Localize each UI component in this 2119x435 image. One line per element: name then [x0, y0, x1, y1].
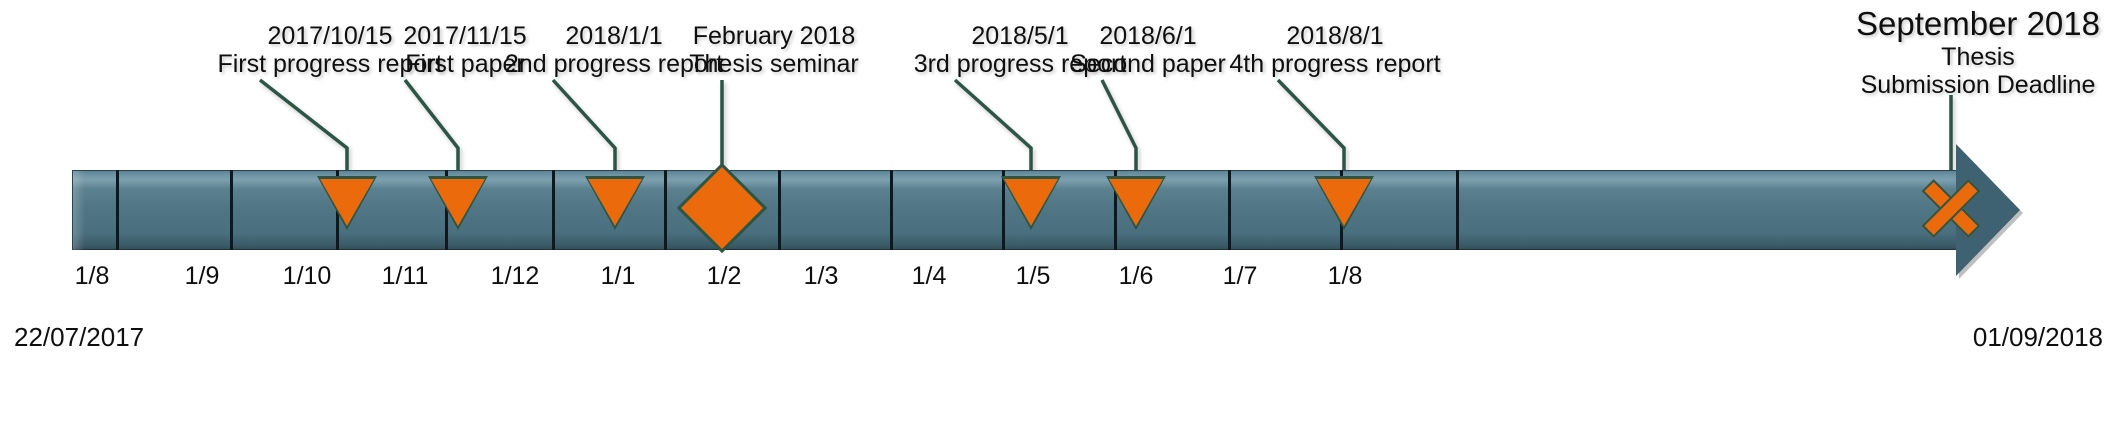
- callout-date: 2018/8/1: [1199, 22, 1471, 50]
- triangle-marker-fill: [1004, 179, 1058, 226]
- triangle-marker-fill: [1109, 179, 1163, 226]
- timeline-tick: [778, 170, 781, 250]
- timeline-tick: [664, 170, 667, 250]
- callout-label: Thesis seminar: [660, 50, 888, 78]
- triangle-marker-fill: [431, 179, 485, 226]
- axis-tick-label-11: 1/6: [1119, 262, 1154, 291]
- triangle-marker-fill: [588, 179, 642, 226]
- axis-tick-label-3: 1/10: [283, 262, 332, 291]
- triangle-marker-fill: [1317, 179, 1371, 226]
- axis-tick-label-12: 1/7: [1223, 262, 1258, 291]
- axis-tick-label-7: 1/2: [707, 262, 742, 291]
- callout-label-line1: Thesis: [1838, 43, 2118, 71]
- callout-date: February 2018: [660, 22, 888, 50]
- axis-tick-label-9: 1/4: [912, 262, 947, 291]
- callout-thesis-submission-deadline: September 2018 Thesis Submission Deadlin…: [1838, 6, 2118, 99]
- callout-label-line2: Submission Deadline: [1838, 71, 2118, 99]
- timeline-tick: [1456, 170, 1459, 250]
- axis-tick-label-10: 1/5: [1016, 262, 1051, 291]
- axis-tick-label-6: 1/1: [601, 262, 636, 291]
- axis-tick-label-8: 1/3: [804, 262, 839, 291]
- axis-tick-label-4: 1/11: [382, 262, 429, 291]
- callout-4th-progress-report: 2018/8/1 4th progress report: [1199, 22, 1471, 78]
- timeline-tick: [230, 170, 233, 250]
- callout-label: 4th progress report: [1199, 50, 1471, 78]
- axis-tick-label-5: 1/12: [491, 262, 540, 291]
- timeline-tick: [1228, 170, 1231, 250]
- timeline-start-date: 22/07/2017: [14, 322, 144, 353]
- triangle-marker-fill: [320, 179, 374, 226]
- timeline-tick: [552, 170, 555, 250]
- axis-tick-label-13: 1/8: [1328, 262, 1363, 291]
- callout-thesis-seminar: February 2018 Thesis seminar: [660, 22, 888, 78]
- timeline-tick: [890, 170, 893, 250]
- timeline-end-date: 01/09/2018: [1973, 322, 2103, 353]
- timeline-bar: [72, 170, 2020, 250]
- cross-marker-icon: [1919, 176, 1983, 240]
- axis-tick-label-2: 1/9: [185, 262, 220, 291]
- timeline-tick: [116, 170, 119, 250]
- callout-date: September 2018: [1838, 6, 2118, 43]
- timeline-diagram: 2017/10/15 First progress report 2017/11…: [0, 0, 2119, 435]
- axis-tick-label-1: 1/8: [75, 262, 110, 291]
